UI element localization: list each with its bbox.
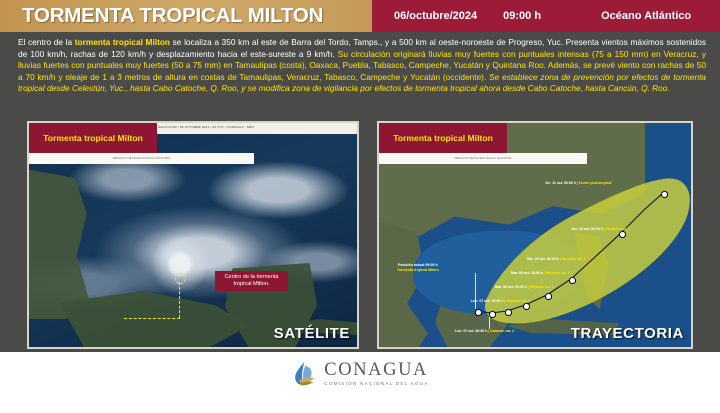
track-label-3-cat: Huracán cat. 3 <box>546 271 570 275</box>
satellite-panel: GOES-16 / ABI / GEOCOLOR / 06 OCTUBRE 20… <box>27 121 359 349</box>
header-title-block: TORMENTA TROPICAL MILTON <box>0 0 372 32</box>
track-label-6-time: Vie. 11 oct. 06:00 h <box>545 181 576 185</box>
trajectory-panel: Vie. 11 oct. 06:00 h | Ciclón post-tropi… <box>377 121 693 349</box>
track-label-0-time: Lun. 07 oct. 06:00 h <box>455 329 487 333</box>
source-strip-trajectory: SERVICIO METEOROLÓGICO NACIONAL <box>379 153 587 164</box>
source-note-trajectory: SERVICIO METEOROLÓGICO NACIONAL <box>454 156 512 160</box>
track-label-0: Lun. 07 oct. 06:00 h | Huracán cat. 2 <box>455 329 514 333</box>
track-point-4 <box>569 277 576 284</box>
track-label-2-cat: Huracán cat. 3 <box>530 285 554 289</box>
logo-text: CONAGUA COMISIÓN NACIONAL DEL AGUA <box>324 361 428 387</box>
track-label-3-time: Mar. 08 oct. 18:00 h <box>511 271 543 275</box>
track-point-6 <box>661 191 668 198</box>
panel-caption-satellite: SATÉLITE <box>274 325 350 342</box>
logo-subtitle: COMISIÓN NACIONAL DEL AGUA <box>324 382 428 387</box>
bulletin-basin: Océano Atlántico <box>541 10 691 22</box>
track-label-3: Mar. 08 oct. 18:00 h | Huracán cat. 3 <box>511 271 570 275</box>
page-title: TORMENTA TROPICAL MILTON <box>0 4 323 28</box>
footer: CONAGUA COMISIÓN NACIONAL DEL AGUA <box>0 352 720 413</box>
storm-tag-trajectory: Tormenta tropical Milton <box>379 123 507 153</box>
conagua-logo: CONAGUA COMISIÓN NACIONAL DEL AGUA <box>291 360 428 388</box>
track-point-0 <box>489 311 496 318</box>
bulletin-date: 06/octubre/2024 <box>372 10 477 22</box>
bulletin-time: 09:00 h <box>477 10 541 22</box>
track-point-5 <box>619 231 626 238</box>
track-label-4: Mié. 09 oct. 06:00 h | Huracán cat. 2 <box>527 257 586 261</box>
satellite-image: GOES-16 / ABI / GEOCOLOR / 06 OCTUBRE 20… <box>29 123 357 347</box>
storm-center-marker <box>175 273 186 284</box>
track-label-2-time: Mar. 08 oct. 06:00 h <box>495 285 527 289</box>
track-point-2 <box>523 303 530 310</box>
storm-name-emphasis: tormenta tropical Milton <box>75 37 170 47</box>
bulletin-graphic: TORMENTA TROPICAL MILTON 06/octubre/2024… <box>0 0 720 413</box>
panel-caption-trajectory: TRAYECTORIA <box>571 325 684 342</box>
source-strip-satellite: SERVICIO METEOROLÓGICO NACIONAL <box>29 153 254 164</box>
current-position-time: Posición actual 09:00 h <box>397 263 439 268</box>
storm-center-callout: Centro de la tormenta tropical Milton. <box>215 271 288 291</box>
track-label-0-cat: Huracán cat. 2 <box>490 329 514 333</box>
source-note-satellite: SERVICIO METEOROLÓGICO NACIONAL <box>112 156 170 160</box>
leader-horizontal <box>124 318 180 319</box>
track-label-5: Jue. 10 oct. 06:00 h | Huracán cat. 1 <box>571 227 630 231</box>
current-position-status: Tormenta tropical Milton <box>397 268 439 273</box>
track-label-4-cat: Huracán cat. 2 <box>562 257 586 261</box>
track-label-5-time: Jue. 10 oct. 06:00 h <box>571 227 603 231</box>
track-point-1 <box>505 309 512 316</box>
track-label-5-cat: Huracán cat. 1 <box>606 227 630 231</box>
header-bar: TORMENTA TROPICAL MILTON 06/octubre/2024… <box>0 0 720 32</box>
header-meta-block: 06/octubre/2024 09:00 h Océano Atlántico <box>372 0 720 32</box>
current-position-leader <box>475 273 476 309</box>
storm-tag-satellite: Tormenta tropical Milton <box>29 123 157 153</box>
current-position-label: Posición actual 09:00 h Tormenta tropica… <box>397 263 439 272</box>
text-segment-intro: El centro de la <box>18 37 75 47</box>
track-label-4-time: Mié. 09 oct. 06:00 h <box>527 257 559 261</box>
track-label-1-time: Lun. 07 oct. 18:00 h <box>471 299 503 303</box>
track-label-6-cat: Ciclón post-tropical <box>579 181 612 185</box>
track-label-6: Vie. 11 oct. 06:00 h | Ciclón post-tropi… <box>545 181 612 185</box>
track-point-3 <box>545 293 552 300</box>
track-label-1-cat: Huracán cat. 3 <box>506 299 530 303</box>
track-point-current <box>475 309 482 316</box>
bulletin-text-block: El centro de la tormenta tropical Milton… <box>0 32 720 118</box>
track-label-1: Lun. 07 oct. 18:00 h | Huracán cat. 3 <box>471 299 530 303</box>
logo-name: CONAGUA <box>324 361 428 380</box>
leader-vertical <box>179 282 180 318</box>
water-drop-icon <box>291 360 317 388</box>
trajectory-map: Vie. 11 oct. 06:00 h | Ciclón post-tropi… <box>379 123 691 347</box>
track-label-2: Mar. 08 oct. 06:00 h | Huracán cat. 3 <box>495 285 554 289</box>
bulletin-paragraph: El centro de la tormenta tropical Milton… <box>18 37 706 95</box>
